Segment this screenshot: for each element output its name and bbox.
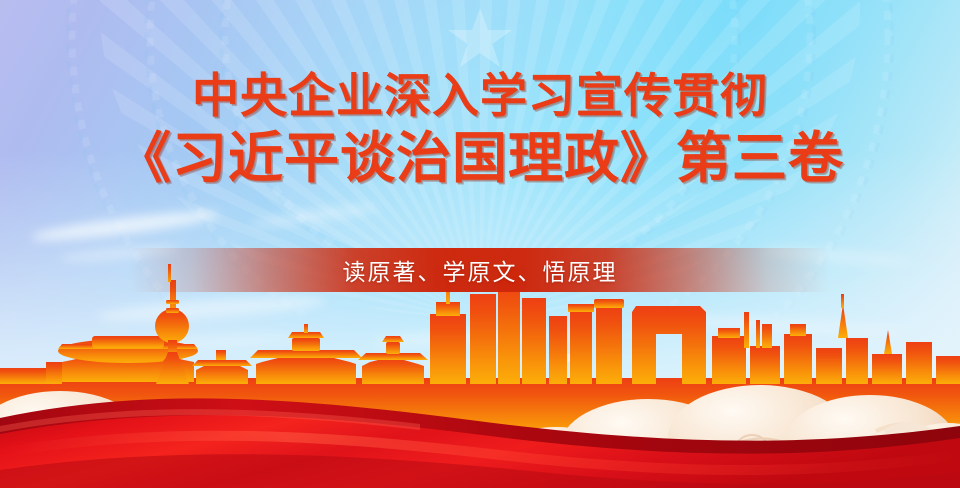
subtitle-text: 读原著、学原文、悟原理 — [343, 253, 618, 287]
subtitle-band: 读原著、学原文、悟原理 — [130, 248, 830, 292]
red-silk-ribbon — [0, 378, 960, 488]
page-title-line-1: 中央企业深入学习宣传贯彻 — [0, 72, 960, 122]
page-title-line-2: 《习近平谈治国理政》第三卷 — [0, 129, 960, 187]
title-block: 中央企业深入学习宣传贯彻 《习近平谈治国理政》第三卷 — [0, 72, 960, 187]
five-pointed-star-icon — [447, 6, 513, 69]
promotional-banner: 中央企业深入学习宣传贯彻 《习近平谈治国理政》第三卷 读原著、学原文、悟原理 — [0, 0, 960, 488]
